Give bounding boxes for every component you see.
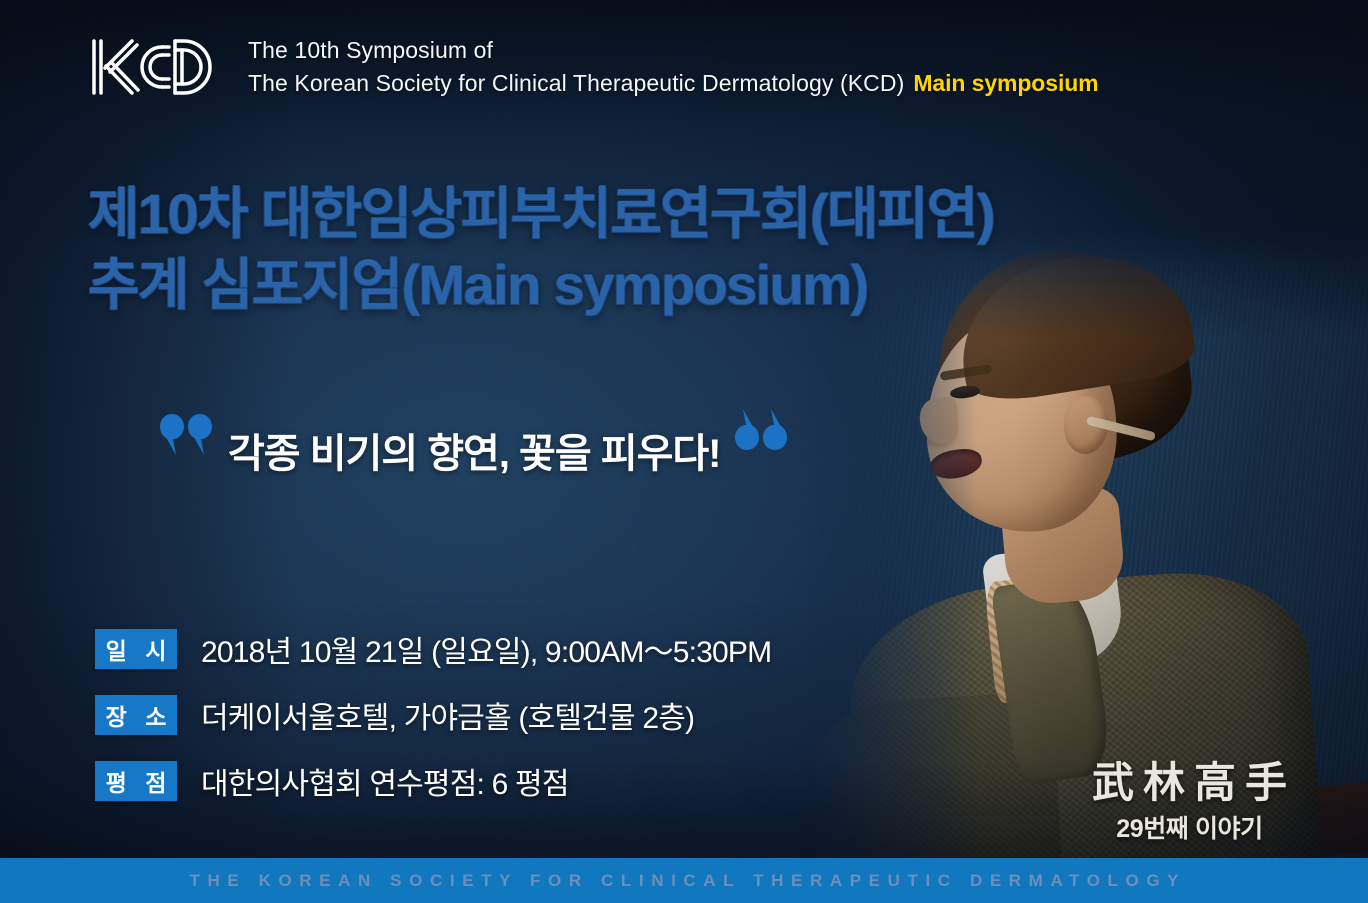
title-line-2: 추계 심포지엄(Main symposium) <box>88 249 994 320</box>
poster-root: The 10th Symposium of The Korean Society… <box>0 0 1368 903</box>
tagline-quote: 각종 비기의 향연, 꽃을 피우다! <box>160 412 787 474</box>
open-quote-icon <box>160 414 212 456</box>
header-line-1: The 10th Symposium of <box>248 34 1099 67</box>
info-row-credits: 평 점 대한의사협회 연수평점: 6 평점 <box>95 759 771 803</box>
info-label-badge: 일 시 <box>95 629 177 669</box>
info-row-venue: 장 소 더케이서울호텔, 가야금홀 (호텔건물 2층) <box>95 693 771 737</box>
header-line-2: The Korean Society for Clinical Therapeu… <box>248 67 1099 100</box>
info-label-badge: 평 점 <box>95 761 177 801</box>
main-symposium-highlight: Main symposium <box>913 67 1098 100</box>
footer-text: THE KOREAN SOCIETY FOR CLINICAL THERAPEU… <box>182 871 1186 891</box>
info-value-date: 2018년 10월 21일 (일요일), 9:00AM〜5:30PM <box>201 627 771 671</box>
info-label-badge: 장 소 <box>95 695 177 735</box>
tagline-text: 각종 비기의 향연, 꽃을 피우다! <box>218 412 729 474</box>
society-name: The Korean Society for Clinical Therapeu… <box>248 67 904 100</box>
info-value-credits: 대한의사협회 연수평점: 6 평점 <box>201 759 569 803</box>
header: The 10th Symposium of The Korean Society… <box>86 33 1099 101</box>
kcd-logo-icon <box>86 33 220 101</box>
info-value-venue: 더케이서울호텔, 가야금홀 (호텔건물 2층) <box>201 693 694 737</box>
footer-bar: THE KOREAN SOCIETY FOR CLINICAL THERAPEU… <box>0 858 1368 903</box>
title-line-1: 제10차 대한임상피부치료연구회(대피연) <box>88 178 994 249</box>
header-text: The 10th Symposium of The Korean Society… <box>248 34 1099 99</box>
event-info-list: 일 시 2018년 10월 21일 (일요일), 9:00AM〜5:30PM 장… <box>95 627 771 803</box>
info-row-date: 일 시 2018년 10월 21일 (일요일), 9:00AM〜5:30PM <box>95 627 771 671</box>
close-quote-icon <box>735 408 787 450</box>
page-title: 제10차 대한임상피부치료연구회(대피연) 추계 심포지엄(Main sympo… <box>88 178 994 320</box>
